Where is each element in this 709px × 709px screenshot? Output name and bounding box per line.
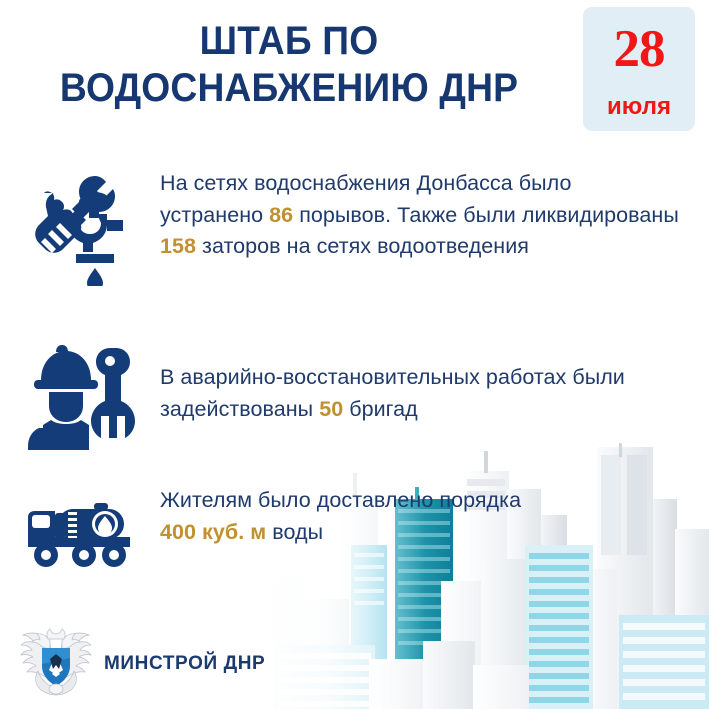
- footer: МИНСТРОЙ ДНР: [20, 625, 265, 699]
- stat-text-2: В аварийно-восстановительных работах был…: [160, 338, 680, 425]
- stat-text-1: На сетях водоснабжения Донбасса было уст…: [160, 168, 680, 263]
- text-part: порывов. Также были ликвидированы: [293, 203, 679, 227]
- date-day: 28: [614, 23, 665, 76]
- hand-wrench-faucet-icon: [21, 168, 139, 286]
- water-tanker-truck-icon: [24, 493, 136, 573]
- icon-wrap-2: [18, 338, 142, 450]
- worker-wrench-icon: [24, 338, 136, 450]
- date-badge: 28 июля: [583, 7, 695, 131]
- text-part: Жителям было доставлено порядка: [160, 488, 521, 512]
- page-title-line-2: ВОДОСНАБЖЕНИЮ ДНР: [20, 65, 558, 112]
- stat-text-3: Жителям было доставлено порядка 400 куб.…: [160, 485, 560, 548]
- icon-wrap-1: [18, 168, 142, 286]
- stat-block-water-delivered: Жителям было доставлено порядка 400 куб.…: [18, 485, 578, 573]
- date-month: июля: [607, 95, 671, 119]
- stat-block-brigades: В аварийно-восстановительных работах был…: [18, 338, 698, 450]
- highlight-number: 50: [319, 397, 343, 421]
- dnr-eagle-emblem-icon: [20, 625, 92, 699]
- footer-label: МИНСТРОЙ ДНР: [104, 649, 265, 675]
- text-part: бригад: [343, 397, 417, 421]
- icon-wrap-3: [18, 485, 142, 573]
- text-part: воды: [266, 520, 323, 544]
- highlight-number: 86: [269, 203, 293, 227]
- page-title: ШТАБ ПО ВОДОСНАБЖЕНИЮ ДНР: [20, 18, 558, 112]
- highlight-number: 400 куб. м: [160, 520, 266, 544]
- text-part: заторов на сетях водоотведения: [196, 234, 529, 258]
- page-title-line-1: ШТАБ ПО: [20, 18, 558, 65]
- infographic-poster: ШТАБ ПО ВОДОСНАБЖЕНИЮ ДНР 28 июля: [0, 0, 709, 709]
- stat-block-repairs: На сетях водоснабжения Донбасса было уст…: [18, 168, 698, 286]
- highlight-number: 158: [160, 234, 196, 258]
